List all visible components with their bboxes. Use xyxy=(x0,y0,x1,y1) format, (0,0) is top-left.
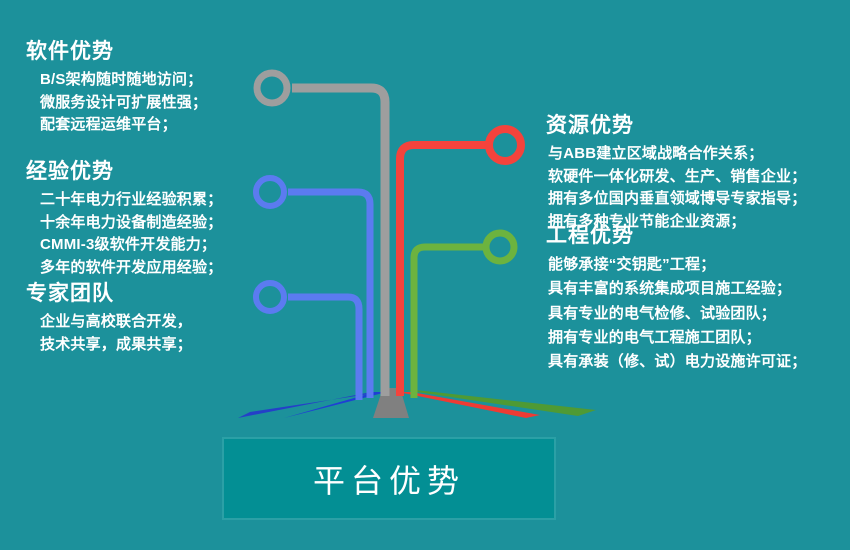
block-engineering-lines: 能够承接“交钥匙”工程； 具有丰富的系统集成项目施工经验； 具有专业的电气检修、… xyxy=(548,253,806,374)
list-item: 配套远程运维平台； xyxy=(40,114,207,137)
node-engineering xyxy=(486,233,514,261)
list-item: 十余年电力设备制造经验； xyxy=(40,212,222,235)
block-experience-lines: 二十年电力行业经验积累； 十余年电力设备制造经验； CMMI-3级软件开发能力；… xyxy=(40,189,222,279)
list-item: 软硬件一体化研发、生产、销售企业； xyxy=(548,166,806,189)
platform-advantage-banner: 平台优势 xyxy=(222,437,556,520)
list-item: 与ABB建立区域战略合作关系； xyxy=(548,143,806,166)
branch-experience xyxy=(256,178,370,398)
list-item: 企业与高校联合开发， xyxy=(40,311,192,334)
block-expert-team-lines: 企业与高校联合开发， 技术共享，成果共享； xyxy=(40,311,192,356)
block-software-header: 软件优势 xyxy=(26,40,207,63)
block-engineering-header: 工程优势 xyxy=(546,224,806,247)
block-expert-team-header: 专家团队 xyxy=(26,282,192,305)
list-item: 能够承接“交钥匙”工程； xyxy=(548,253,806,277)
list-item: 具有承装（修、试）电力设施许可证； xyxy=(548,350,806,374)
node-software xyxy=(257,73,287,103)
block-software: 软件优势 B/S架构随时随地访问； 微服务设计可扩展性强； 配套远程运维平台； xyxy=(22,40,207,137)
list-item: 多年的软件开发应用经验； xyxy=(40,257,222,280)
node-resource xyxy=(489,129,521,161)
block-experience: 经验优势 二十年电力行业经验积累； 十余年电力设备制造经验； CMMI-3级软件… xyxy=(22,160,222,279)
node-experience xyxy=(256,178,284,206)
list-item: 具有专业的电气检修、试验团队； xyxy=(548,302,806,326)
block-resource-header: 资源优势 xyxy=(546,114,806,137)
block-software-lines: B/S架构随时随地访问； 微服务设计可扩展性强； 配套远程运维平台； xyxy=(40,69,207,137)
branch-software xyxy=(257,73,385,396)
list-item: 二十年电力行业经验积累； xyxy=(40,189,222,212)
node-expert xyxy=(256,283,284,311)
list-item: 具有丰富的系统集成项目施工经验； xyxy=(548,277,806,301)
block-engineering: 工程优势 能够承接“交钥匙”工程； 具有丰富的系统集成项目施工经验； 具有专业的… xyxy=(538,224,806,375)
block-expert-team: 专家团队 企业与高校联合开发， 技术共享，成果共享； xyxy=(22,282,192,356)
branch-expert xyxy=(256,283,359,400)
infographic-root: 软件优势 B/S架构随时随地访问； 微服务设计可扩展性强； 配套远程运维平台； … xyxy=(0,0,850,550)
list-item: CMMI-3级软件开发能力； xyxy=(40,234,222,257)
block-resource-lines: 与ABB建立区域战略合作关系； 软硬件一体化研发、生产、销售企业； 拥有多位国内… xyxy=(548,143,806,233)
list-item: B/S架构随时随地访问； xyxy=(40,69,207,92)
block-resource: 资源优势 与ABB建立区域战略合作关系； 软硬件一体化研发、生产、销售企业； 拥… xyxy=(538,114,806,233)
block-experience-header: 经验优势 xyxy=(26,160,222,183)
branch-engineering xyxy=(414,233,514,398)
list-item: 拥有多位国内垂直领域博导专家指导； xyxy=(548,188,806,211)
banner-title: 平台优势 xyxy=(313,456,465,502)
list-item: 技术共享，成果共享； xyxy=(40,334,192,357)
list-item: 拥有专业的电气工程施工团队； xyxy=(548,326,806,350)
list-item: 微服务设计可扩展性强； xyxy=(40,92,207,115)
